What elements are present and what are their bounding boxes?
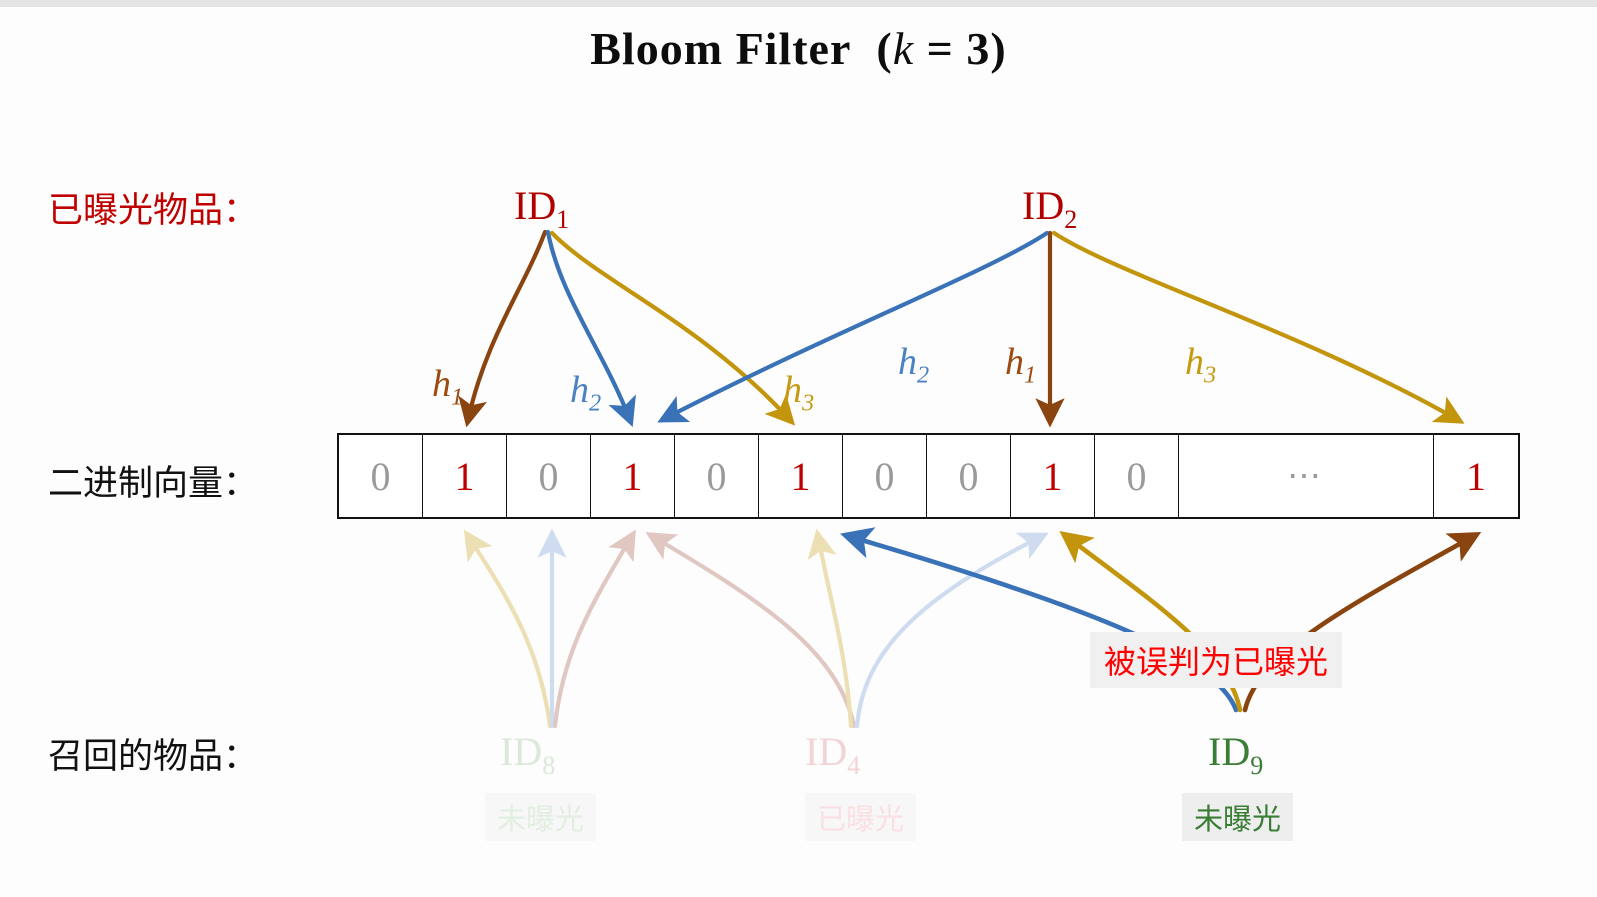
id1-sub: 1 bbox=[556, 205, 569, 234]
arrow-id2-h3 bbox=[1054, 233, 1458, 420]
bit-cell-1: 0 bbox=[339, 435, 423, 517]
misjudged-annotation: 被误判为已曝光 bbox=[1090, 632, 1342, 688]
title-k-var: k bbox=[893, 23, 914, 74]
title-main: Bloom Filter bbox=[590, 23, 851, 74]
label-bit-vector: 二进制向量： bbox=[48, 455, 258, 506]
id2-base: ID bbox=[1022, 183, 1064, 228]
bit-cell-ellipsis: ⋯ bbox=[1179, 435, 1434, 517]
label-exposed-items: 已曝光物品： bbox=[48, 182, 258, 233]
arrow-id2-h2 bbox=[664, 233, 1047, 419]
h2b-sub: 2 bbox=[917, 362, 929, 389]
page-title: Bloom Filter (k = 3) bbox=[0, 22, 1597, 75]
bit-cell-2: 1 bbox=[423, 435, 507, 517]
arrow-id8-h1 bbox=[468, 536, 550, 726]
h3a-sub: 3 bbox=[802, 390, 814, 417]
bit-vector-table: 0 1 0 1 0 1 0 0 1 0 ⋯ 1 bbox=[337, 433, 1520, 519]
recalled-item-id8: ID8 bbox=[500, 728, 555, 781]
h3b-base: h bbox=[1185, 341, 1204, 383]
bit-cell-last: 1 bbox=[1434, 435, 1518, 517]
h2b-base: h bbox=[898, 341, 917, 383]
hash-label-id2-h1: h1 bbox=[1005, 340, 1036, 390]
hash-label-id1-h3: h3 bbox=[783, 368, 814, 418]
id2-sub: 2 bbox=[1064, 205, 1077, 234]
id9-base: ID bbox=[1208, 729, 1250, 774]
h3a-base: h bbox=[783, 369, 802, 411]
id4-base: ID bbox=[805, 729, 847, 774]
recalled-item-id4: ID4 bbox=[805, 728, 860, 781]
bit-cell-7: 0 bbox=[843, 435, 927, 517]
h1a-base: h bbox=[432, 363, 451, 405]
status-badge-id9: 未曝光 bbox=[1182, 793, 1293, 841]
id1-base: ID bbox=[514, 183, 556, 228]
bit-cell-3: 0 bbox=[507, 435, 591, 517]
h2a-sub: 2 bbox=[589, 390, 601, 417]
title-k-value: 3 bbox=[966, 23, 990, 74]
bit-cell-8: 0 bbox=[927, 435, 1011, 517]
bit-cell-4: 1 bbox=[591, 435, 675, 517]
recalled-item-id9: ID9 bbox=[1208, 728, 1263, 781]
id8-sub: 8 bbox=[542, 751, 555, 780]
h3b-sub: 3 bbox=[1204, 362, 1216, 389]
h1b-base: h bbox=[1005, 341, 1024, 383]
bit-cell-5: 0 bbox=[675, 435, 759, 517]
h1a-sub: 1 bbox=[451, 384, 463, 411]
status-badge-id8: 未曝光 bbox=[485, 793, 596, 841]
bit-cell-6: 1 bbox=[759, 435, 843, 517]
hash-label-id1-h2: h2 bbox=[570, 368, 601, 418]
hash-label-id1-h1: h1 bbox=[432, 362, 463, 412]
id8-base: ID bbox=[500, 729, 542, 774]
h1b-sub: 1 bbox=[1024, 362, 1036, 389]
id9-sub: 9 bbox=[1250, 751, 1263, 780]
arrow-id1-h1 bbox=[468, 232, 545, 420]
title-paren-close: ) bbox=[990, 23, 1006, 74]
h2a-base: h bbox=[570, 369, 589, 411]
label-recalled-items: 召回的物品： bbox=[48, 728, 258, 779]
title-eq: = bbox=[914, 23, 966, 74]
arrow-id8-h3 bbox=[555, 536, 632, 726]
id4-sub: 4 bbox=[847, 751, 860, 780]
title-paren-open: ( bbox=[876, 23, 892, 74]
bit-cell-9: 1 bbox=[1011, 435, 1095, 517]
hash-label-id2-h3: h3 bbox=[1185, 340, 1216, 390]
exposed-item-id2: ID2 bbox=[1022, 182, 1077, 235]
bit-cell-10: 0 bbox=[1095, 435, 1179, 517]
exposed-item-id1: ID1 bbox=[514, 182, 569, 235]
status-badge-id4: 已曝光 bbox=[805, 793, 916, 841]
hash-label-id2-h2: h2 bbox=[898, 340, 929, 390]
